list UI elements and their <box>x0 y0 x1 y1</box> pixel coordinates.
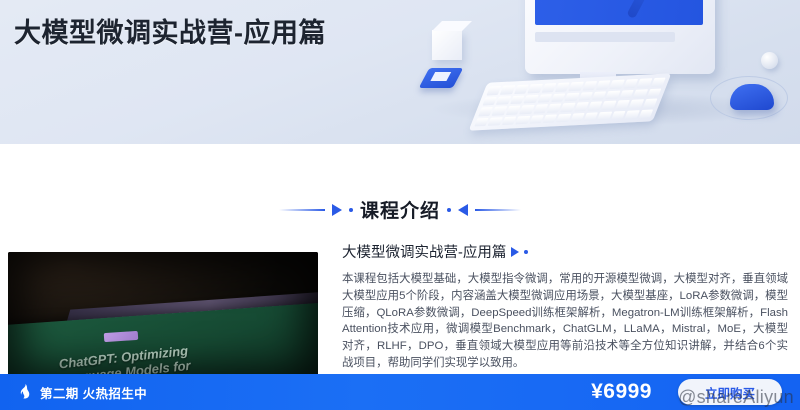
flame-icon <box>18 384 33 401</box>
dot-left-icon <box>349 208 353 212</box>
dot-right-icon <box>447 208 451 212</box>
promo-text: 第二期 火热招生中 <box>40 383 147 402</box>
course-title: 大模型微调实战营-应用篇 <box>342 241 506 262</box>
hero-banner: 大模型微调实战营-应用篇 <box>0 0 800 144</box>
course-detail-column: 大模型微调实战营-应用篇 本课程包括大模型基础，大模型指令微调，常用的开源模型微… <box>342 241 788 372</box>
cube-decoration <box>432 30 462 60</box>
mouse-illustration <box>730 84 774 110</box>
course-thumbnail-image: ChatGPT: Optimizing Language Models for … <box>8 252 318 382</box>
sphere-decoration <box>761 52 778 69</box>
keyboard-keys <box>474 78 665 127</box>
page-title: 大模型微调实战营-应用篇 <box>14 11 326 50</box>
bottom-action-bar: 第二期 火热招生中 ¥6999 立即购买 <box>0 374 800 410</box>
triangle-left-icon <box>458 204 468 216</box>
triangle-right-small-icon <box>511 247 519 257</box>
course-landing-page: 大模型微调实战营-应用篇 <box>0 0 800 410</box>
course-price: ¥6999 <box>591 380 652 404</box>
monitor-illustration <box>525 0 715 74</box>
promo-block: 第二期 火热招生中 <box>18 383 147 402</box>
heading-rule-right <box>475 209 521 211</box>
triangle-right-icon <box>332 204 342 216</box>
course-title-row: 大模型微调实战营-应用篇 <box>342 241 788 262</box>
course-description: 本课程包括大模型基础，大模型指令微调，常用的开源模型微调，大模型对齐，垂直领域大… <box>342 271 788 372</box>
section-title: 课程介绍 <box>360 196 440 223</box>
buy-now-button[interactable]: 立即购买 <box>678 379 782 405</box>
screen-bar-bottom <box>535 32 675 42</box>
desktop-computer-3d-illustration <box>410 0 800 144</box>
blue-tray-decoration <box>419 68 464 88</box>
dot-small-icon <box>524 250 528 254</box>
section-heading: 课程介绍 <box>0 196 800 223</box>
heading-rule-left <box>279 209 325 211</box>
thumbnail-vignette <box>8 252 318 382</box>
screen-bar-highlight <box>535 0 703 25</box>
